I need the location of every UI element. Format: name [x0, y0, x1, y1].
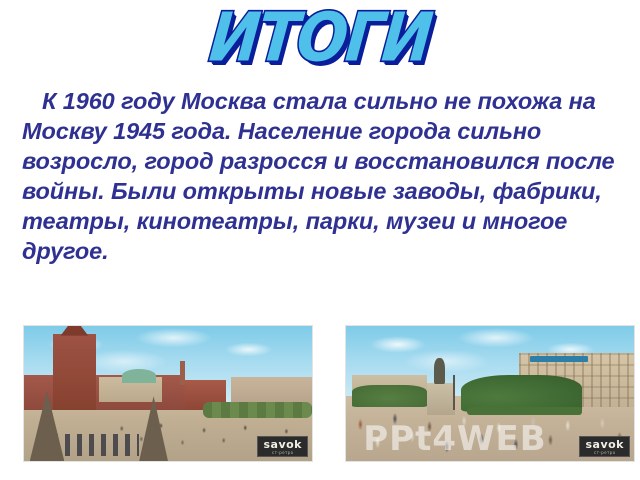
photo-pushkin-square: PPt4WEB savok ст-ретро — [345, 325, 635, 462]
savok-watermark: savok ст-ретро — [579, 436, 630, 457]
photo-row: savok ст-ретро PPt4WEB — [0, 325, 640, 470]
ppt4web-watermark: PPt4WEB — [363, 422, 546, 456]
photo-red-square: savok ст-ретро — [23, 325, 313, 462]
slide-title-container: ИТОГИ — [0, 2, 640, 74]
senate-dome — [122, 369, 157, 383]
page-title: ИТОГИ — [207, 4, 434, 71]
savok-watermark: savok ст-ретро — [257, 436, 308, 457]
savok-watermark-sub: ст-ретро — [263, 451, 302, 455]
savok-watermark-main: savok — [263, 439, 302, 450]
tree-line — [203, 402, 312, 418]
slide-body-text: К 1960 году Москва стала сильно не похож… — [22, 86, 618, 266]
pushkin-statue — [434, 358, 446, 384]
rooftop-sign — [530, 356, 588, 363]
savok-watermark-main: savok — [585, 439, 624, 450]
savok-watermark-sub: ст-ретро — [585, 451, 624, 455]
kremlin-tower — [53, 334, 96, 410]
presentation-slide: ИТОГИ К 1960 году Москва стала сильно не… — [0, 0, 640, 480]
